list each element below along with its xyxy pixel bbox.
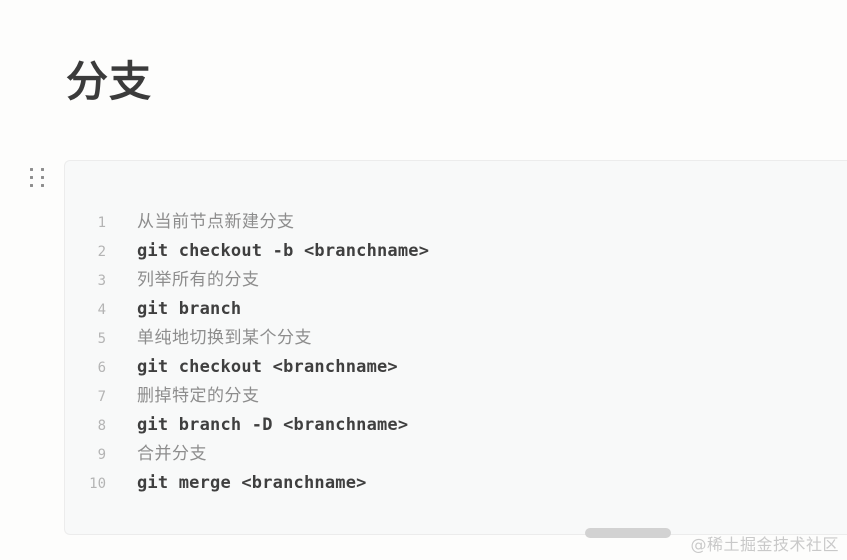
- code-command: git branch -D <branchname>: [137, 411, 408, 440]
- line-number: 9: [65, 441, 106, 470]
- line-number: 2: [65, 238, 106, 267]
- code-line: 8git branch -D <branchname>: [65, 411, 847, 440]
- code-line-list: 1从当前节点新建分支2git checkout -b <branchname>3…: [65, 208, 847, 498]
- line-number: 4: [65, 296, 106, 325]
- code-command: git checkout -b <branchname>: [137, 237, 429, 266]
- line-number: 3: [65, 267, 106, 296]
- code-line: 1从当前节点新建分支: [65, 208, 847, 237]
- code-line: 3列举所有的分支: [65, 266, 847, 295]
- drag-dot: [41, 168, 44, 171]
- code-line: 4git branch: [65, 295, 847, 324]
- line-number: 7: [65, 383, 106, 412]
- code-line: 6git checkout <branchname>: [65, 353, 847, 382]
- page-root: 分支 1从当前节点新建分支2git checkout -b <branchnam…: [0, 0, 847, 560]
- code-command: git branch: [137, 295, 241, 324]
- code-comment: 列举所有的分支: [137, 266, 260, 295]
- line-number: 1: [65, 209, 106, 238]
- code-line: 9合并分支: [65, 440, 847, 469]
- line-number: 10: [65, 470, 106, 499]
- code-line: 10git merge <branchname>: [65, 469, 847, 498]
- code-line: 5单纯地切换到某个分支: [65, 324, 847, 353]
- code-line: 7删掉特定的分支: [65, 382, 847, 411]
- drag-dot: [30, 168, 33, 171]
- code-line: 2git checkout -b <branchname>: [65, 237, 847, 266]
- drag-dot: [30, 176, 33, 179]
- code-comment: 从当前节点新建分支: [137, 208, 295, 237]
- line-number: 6: [65, 354, 106, 383]
- page-title: 分支: [66, 54, 152, 110]
- line-number: 8: [65, 412, 106, 441]
- drag-dot: [41, 184, 44, 187]
- code-comment: 合并分支: [137, 440, 207, 469]
- drag-dots-icon[interactable]: [30, 168, 46, 188]
- code-command: git merge <branchname>: [137, 469, 367, 498]
- code-block[interactable]: 1从当前节点新建分支2git checkout -b <branchname>3…: [64, 160, 847, 535]
- drag-dot: [30, 184, 33, 187]
- line-number: 5: [65, 325, 106, 354]
- horizontal-scrollbar-thumb[interactable]: [585, 528, 671, 538]
- code-comment: 单纯地切换到某个分支: [137, 324, 312, 353]
- code-command: git checkout <branchname>: [137, 353, 398, 382]
- drag-dot: [41, 176, 44, 179]
- watermark: @稀土掘金技术社区: [690, 531, 839, 555]
- code-comment: 删掉特定的分支: [137, 382, 260, 411]
